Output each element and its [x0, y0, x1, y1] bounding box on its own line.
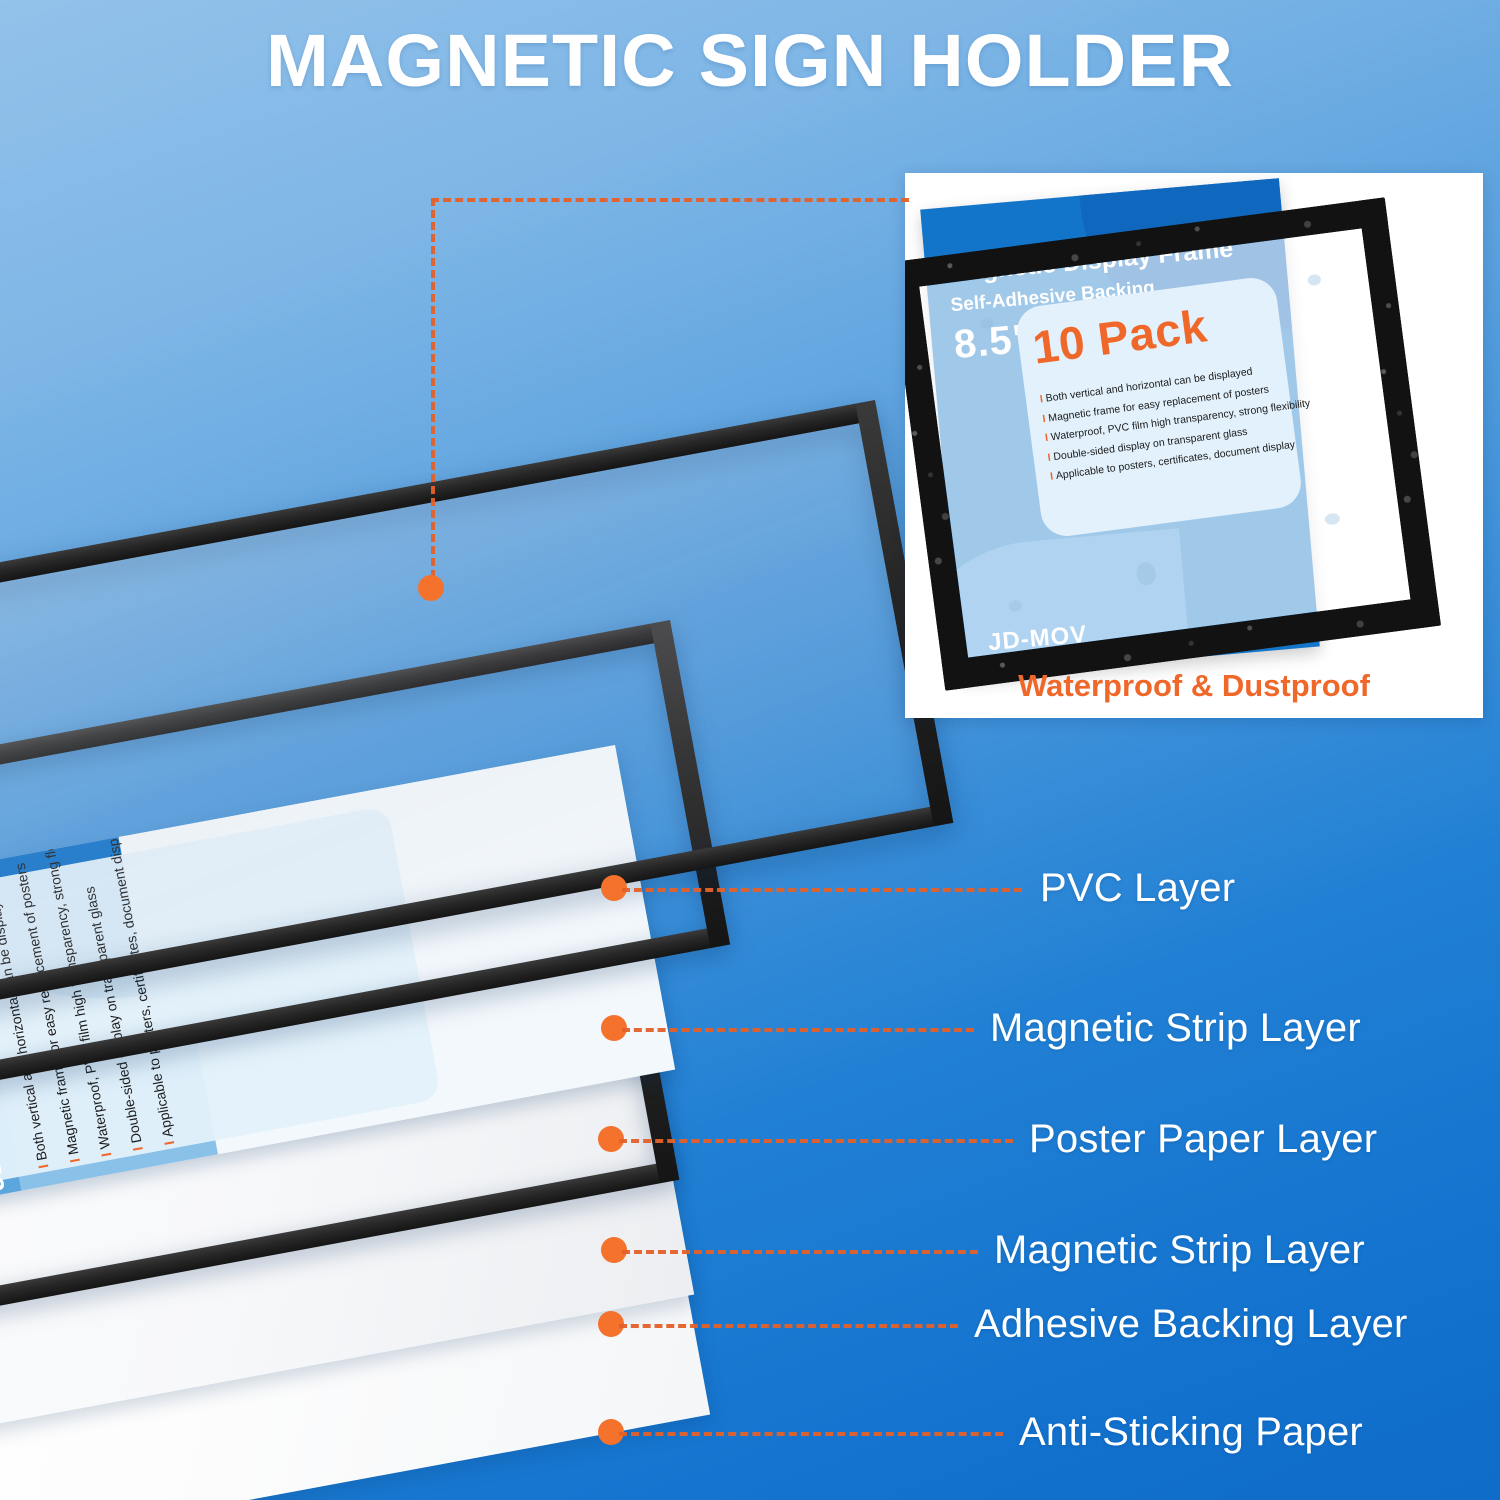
callout-leader-anti-sticking-paper: [619, 1432, 1003, 1436]
inset-caption: Waterproof & Dustproof: [905, 668, 1483, 704]
inset-feature-card: 10 Pack Both vertical and horizontal can…: [1014, 275, 1304, 539]
callout-leader-pvc: [622, 888, 1022, 892]
callout-leader-magnetic-strip-upper: [622, 1028, 974, 1032]
product-photo-inset: Magnetic Display Frame Self-Adhesive Bac…: [905, 173, 1483, 718]
callout-label-magnetic-strip-upper: Magnetic Strip Layer: [990, 1006, 1361, 1051]
callout-leader-vertical-pvc: [431, 198, 435, 590]
callout-label-adhesive-backing: Adhesive Backing Layer: [974, 1302, 1408, 1347]
callout-leader-magnetic-strip-lower: [622, 1250, 978, 1254]
callout-leader-adhesive-backing: [619, 1324, 958, 1328]
callout-label-anti-sticking-paper: Anti-Sticking Paper: [1019, 1410, 1363, 1455]
page-title: MAGNETIC SIGN HOLDER: [0, 18, 1500, 103]
callout-leader-horizontal-pvc-top: [431, 198, 909, 202]
callout-label-magnetic-strip-lower: Magnetic Strip Layer: [994, 1228, 1365, 1273]
inset-feature-list: Both vertical and horizontal can be disp…: [1039, 359, 1292, 488]
callout-label-pvc: PVC Layer: [1040, 866, 1235, 911]
infographic-canvas: MAGNETIC SIGN HOLDER Magnetic Display Fr…: [0, 0, 1500, 1500]
callout-label-poster-paper: Poster Paper Layer: [1029, 1117, 1377, 1162]
callout-dot-pvc-anchor: [418, 575, 444, 601]
inset-pack-badge: 10 Pack: [1030, 298, 1210, 374]
callout-leader-poster-paper: [619, 1139, 1013, 1143]
